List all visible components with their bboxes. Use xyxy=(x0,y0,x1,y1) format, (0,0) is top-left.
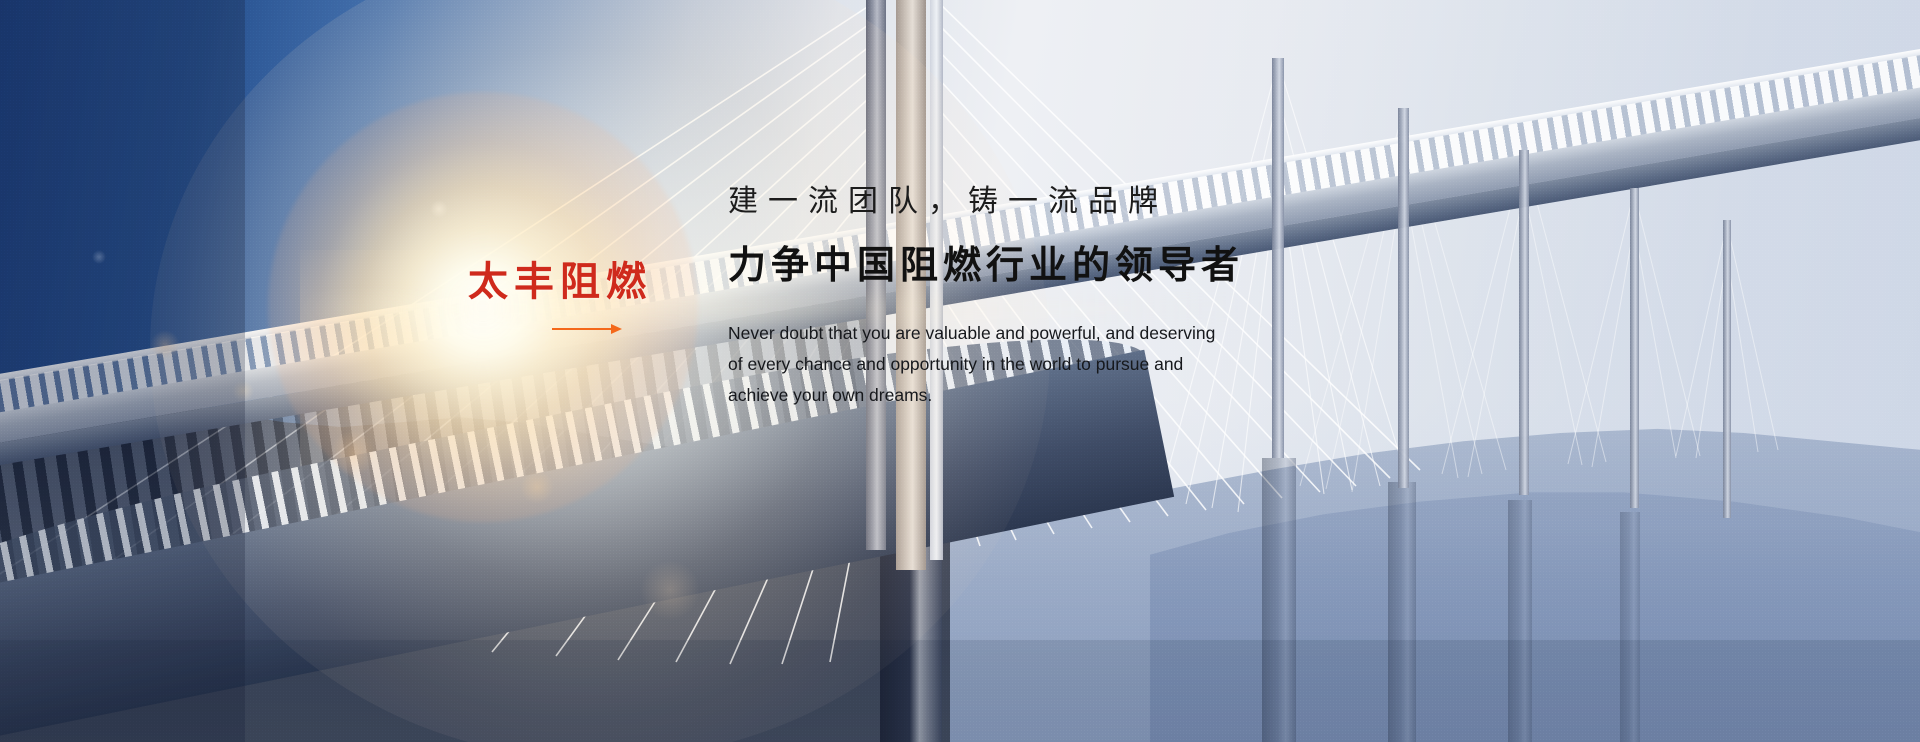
subcopy-line-3: achieve your own dreams. xyxy=(728,380,1298,411)
hero-banner: 太丰阻燃 建一流团队，铸一流品牌 力争中国阻燃行业的领导者 Never doub… xyxy=(0,0,1920,742)
headline-subcopy: Never doubt that you are valuable and po… xyxy=(728,318,1298,411)
headline-title: 力争中国阻燃行业的领导者 xyxy=(728,242,1468,290)
headline-block: 建一流团队，铸一流品牌 力争中国阻燃行业的领导者 Never doubt tha… xyxy=(728,184,1468,411)
subcopy-line-2: of every chance and opportunity in the w… xyxy=(728,349,1298,380)
arrow-right-icon xyxy=(552,324,622,334)
arrow-bar xyxy=(552,328,616,330)
subcopy-line-1: Never doubt that you are valuable and po… xyxy=(728,318,1298,349)
brand-logo[interactable]: 太丰阻燃 xyxy=(468,262,688,334)
banner-content: 太丰阻燃 建一流团队，铸一流品牌 力争中国阻燃行业的领导者 Never doub… xyxy=(0,0,1920,742)
headline-subtitle: 建一流团队，铸一流品牌 xyxy=(728,184,1468,220)
brand-name: 太丰阻燃 xyxy=(468,262,688,302)
arrow-head xyxy=(611,324,622,334)
